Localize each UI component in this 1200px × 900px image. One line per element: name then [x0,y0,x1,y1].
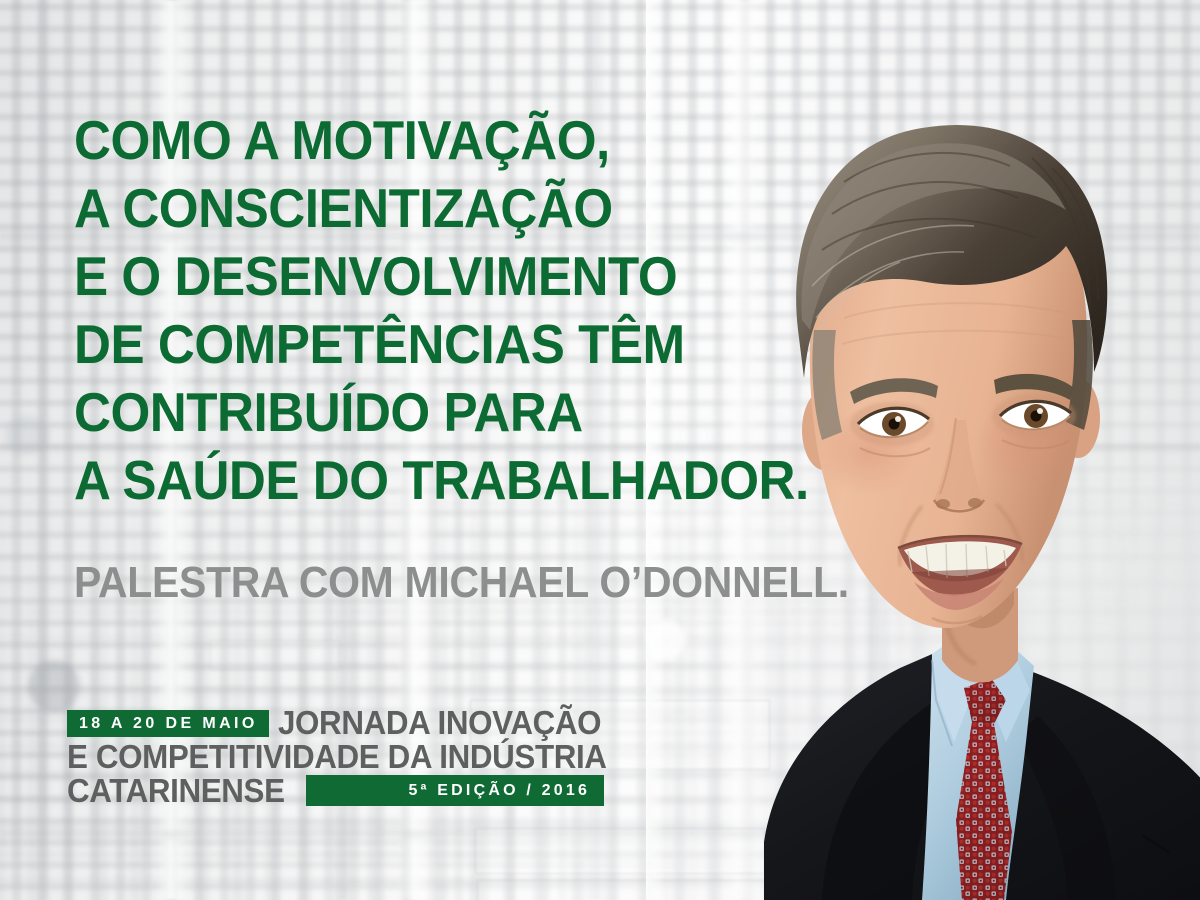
background-box [210,640,340,670]
lockup-title-line-3: CATARINENSE [67,774,285,807]
headline-line-6: A SAÚDE DO TRABALHADOR. [74,446,809,514]
lockup-row-1: 18 A 20 DE MAIO JORNADA INOVAÇÃO [67,706,635,739]
headline-line-4: DE COMPETÊNCIAS TÊM [74,310,809,378]
bokeh-circle [5,415,49,455]
lockup-title-line-2: E COMPETITIVIDADE DA INDÚSTRIA [67,740,607,773]
subtitle-speaker: PALESTRA COM MICHAEL O’DONNELL. [74,557,849,609]
headline-line-2: A CONSCIENTIZAÇÃO [74,174,809,242]
date-badge: 18 A 20 DE MAIO [67,710,269,737]
lockup-row-3: CATARINENSE 5ª EDIÇÃO / 2016 [67,774,635,807]
edition-badge: 5ª EDIÇÃO / 2016 [306,775,604,806]
lockup-title-line-1: JORNADA INOVAÇÃO [278,706,601,739]
lockup-row-2: E COMPETITIVIDADE DA INDÚSTRIA [67,740,635,773]
poster-canvas: COMO A MOTIVAÇÃO, A CONSCIENTIZAÇÃO E O … [0,0,1200,900]
event-lockup: 18 A 20 DE MAIO JORNADA INOVAÇÃO E COMPE… [67,706,635,807]
headline-line-1: COMO A MOTIVAÇÃO, [74,106,809,174]
headline-line-5: CONTRIBUÍDO PARA [74,378,809,446]
headline-line-3: E O DESENVOLVIMENTO [74,242,809,310]
headline: COMO A MOTIVAÇÃO, A CONSCIENTIZAÇÃO E O … [74,106,864,514]
bokeh-circle [28,660,80,712]
